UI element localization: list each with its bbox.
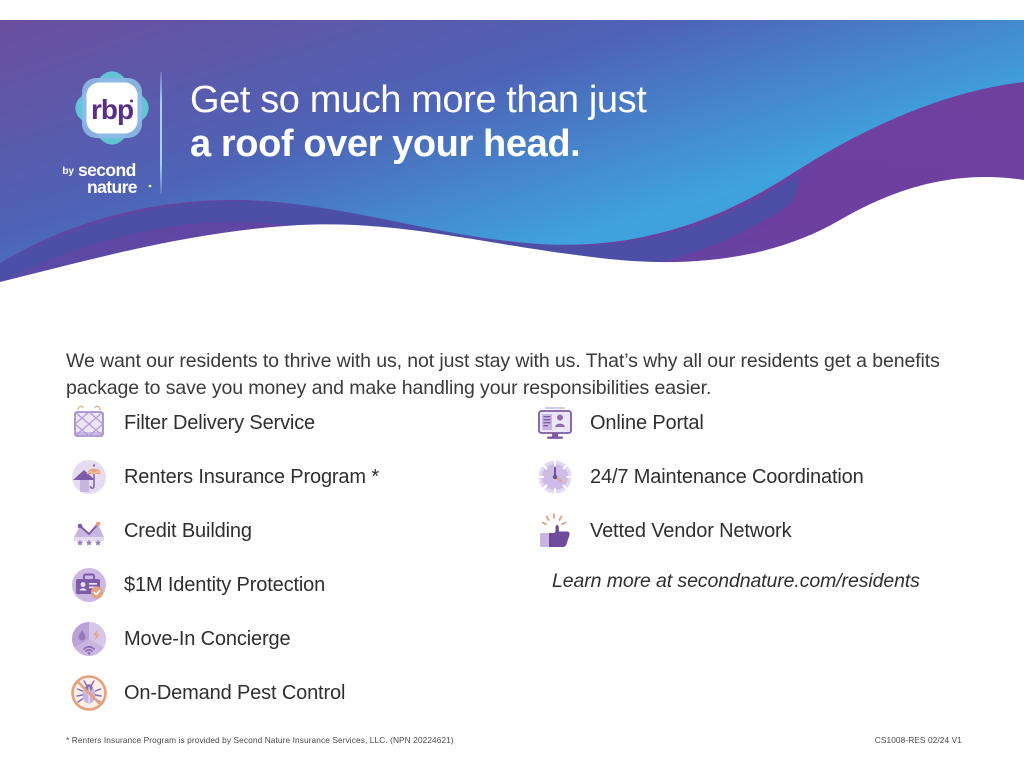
umbrella-house-icon [66,454,112,500]
svg-text:rbp: rbp [91,94,133,125]
utilities-wifi-icon [66,616,112,662]
id-badge-icon [66,562,112,608]
headline-line-1: Get so much more than just [190,78,646,122]
footer-disclaimer: * Renters Insurance Program is provided … [66,735,454,745]
benefit-maintenance-coordination: 24/7 Maintenance Coordination [532,450,972,504]
benefit-online-portal: Online Portal [532,396,972,450]
clock-icon [532,454,578,500]
banner-content: rbp by second nature Get so much more th [0,20,1024,285]
thumbs-up-icon [532,508,578,554]
benefit-label: Online Portal [590,412,704,435]
svg-text:nature: nature [87,177,138,197]
benefit-label: On-Demand Pest Control [124,682,345,705]
flyer-page: rbp by second nature Get so much more th [0,0,1024,769]
benefit-label: Renters Insurance Program * [124,466,379,489]
benefit-label: Filter Delivery Service [124,412,315,435]
benefits-column-left: Filter Delivery Service Renters Insuranc… [66,396,526,720]
svg-text:by: by [62,166,74,177]
benefits-column-right: Online Portal [532,396,972,558]
benefit-move-in-concierge: Move-In Concierge [66,612,526,666]
benefit-label: Credit Building [124,520,252,543]
benefit-label: Vetted Vendor Network [590,520,791,543]
second-nature-wordmark: by second nature [58,158,166,198]
benefit-credit-building: Credit Building [66,504,526,558]
credit-stars-icon [66,508,112,554]
air-filter-icon [66,400,112,446]
header-banner: rbp by second nature Get so much more th [0,20,1024,285]
benefit-label: $1M Identity Protection [124,574,325,597]
monitor-portal-icon [532,400,578,446]
rbp-logo-lockup: rbp by second nature [58,65,166,198]
no-pest-icon [66,670,112,716]
benefit-identity-protection: $1M Identity Protection [66,558,526,612]
rbp-badge-icon: rbp [69,65,155,151]
learn-more-text: Learn more at secondnature.com/residents [552,570,920,593]
benefit-filter-delivery-service: Filter Delivery Service [66,396,526,450]
benefit-label: 24/7 Maintenance Coordination [590,466,864,489]
headline-line-2: a roof over your head. [190,122,646,166]
benefit-label: Move-In Concierge [124,628,290,651]
intro-paragraph: We want our residents to thrive with us,… [66,348,946,403]
benefit-pest-control: On-Demand Pest Control [66,666,526,720]
benefit-renters-insurance-program: Renters Insurance Program * [66,450,526,504]
benefit-vetted-vendor-network: Vetted Vendor Network [532,504,972,558]
footer-doc-code: CS1008-RES 02/24 V1 [875,735,962,745]
logo-divider [160,72,162,194]
page-title: Get so much more than just a roof over y… [190,78,646,166]
